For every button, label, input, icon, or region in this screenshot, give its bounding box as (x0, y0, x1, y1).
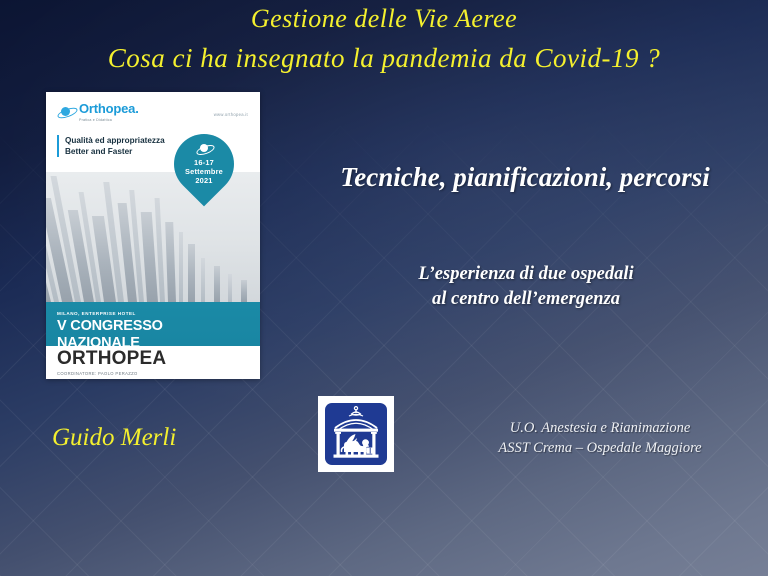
brochure-coordinator: COORDINATORE: PAOLO PERAZZO (57, 371, 249, 376)
brochure-claim: Qualità ed appropriatezza Better and Fas… (57, 135, 165, 157)
orthopea-logo: Orthopea. Pratica e Didattica (57, 101, 139, 123)
brochure-venue: MILANO, ENTERPRISE HOTEL (57, 311, 249, 316)
orthopea-logo-name: Orthopea (79, 101, 135, 116)
brochure-claim-line-1: Qualità ed appropriatezza (65, 135, 165, 146)
saturn-planet-icon (57, 105, 76, 118)
brochure-website: www.orthopea.it (214, 112, 248, 117)
affiliation-line-1: U.O. Anestesia e Rianimazione (440, 418, 760, 438)
brochure-date-pin: 16-17 Settembre 2021 (162, 122, 247, 207)
orthopea-logo-tagline: Pratica e Didattica (79, 119, 139, 123)
pin-date-line-1: 16-17 (194, 158, 214, 167)
sub-heading: L’esperienza di due ospedali al centro d… (300, 262, 752, 312)
pin-date-line-2: Settembre (185, 167, 223, 176)
brochure-claim-line-2: Better and Faster (65, 146, 165, 157)
sub-heading-line-2: al centro dell’emergenza (300, 287, 752, 312)
winged-lion-emblem-icon (325, 403, 387, 465)
congress-brochure-image: Orthopea. Pratica e Didattica www.orthop… (46, 92, 260, 379)
slide-title: Gestione delle Vie Aeree Cosa ci ha inse… (0, 2, 768, 76)
affiliation-line-2: ASST Crema – Ospedale Maggiore (440, 438, 760, 458)
main-heading: Tecniche, pianificazioni, percorsi (290, 160, 760, 195)
brochure-banner: MILANO, ENTERPRISE HOTEL V CONGRESSO NAZ… (46, 302, 260, 379)
brochure-footer: ORTHOPEA COORDINATORE: PAOLO PERAZZO (46, 346, 260, 379)
brochure-brand: ORTHOPEA (57, 348, 249, 369)
title-line-1: Gestione delle Vie Aeree (0, 2, 768, 36)
title-line-2: Cosa ci ha insegnato la pandemia da Covi… (0, 40, 768, 76)
presentation-slide: Gestione delle Vie Aeree Cosa ci ha inse… (0, 0, 768, 576)
pin-saturn-icon (196, 143, 213, 155)
pin-date-line-3: 2021 (195, 176, 212, 185)
affiliation: U.O. Anestesia e Rianimazione ASST Crema… (440, 418, 760, 458)
asst-crema-logo (318, 396, 394, 472)
speaker-name: Guido Merli (52, 422, 176, 454)
sub-heading-line-1: L’esperienza di due ospedali (300, 262, 752, 287)
